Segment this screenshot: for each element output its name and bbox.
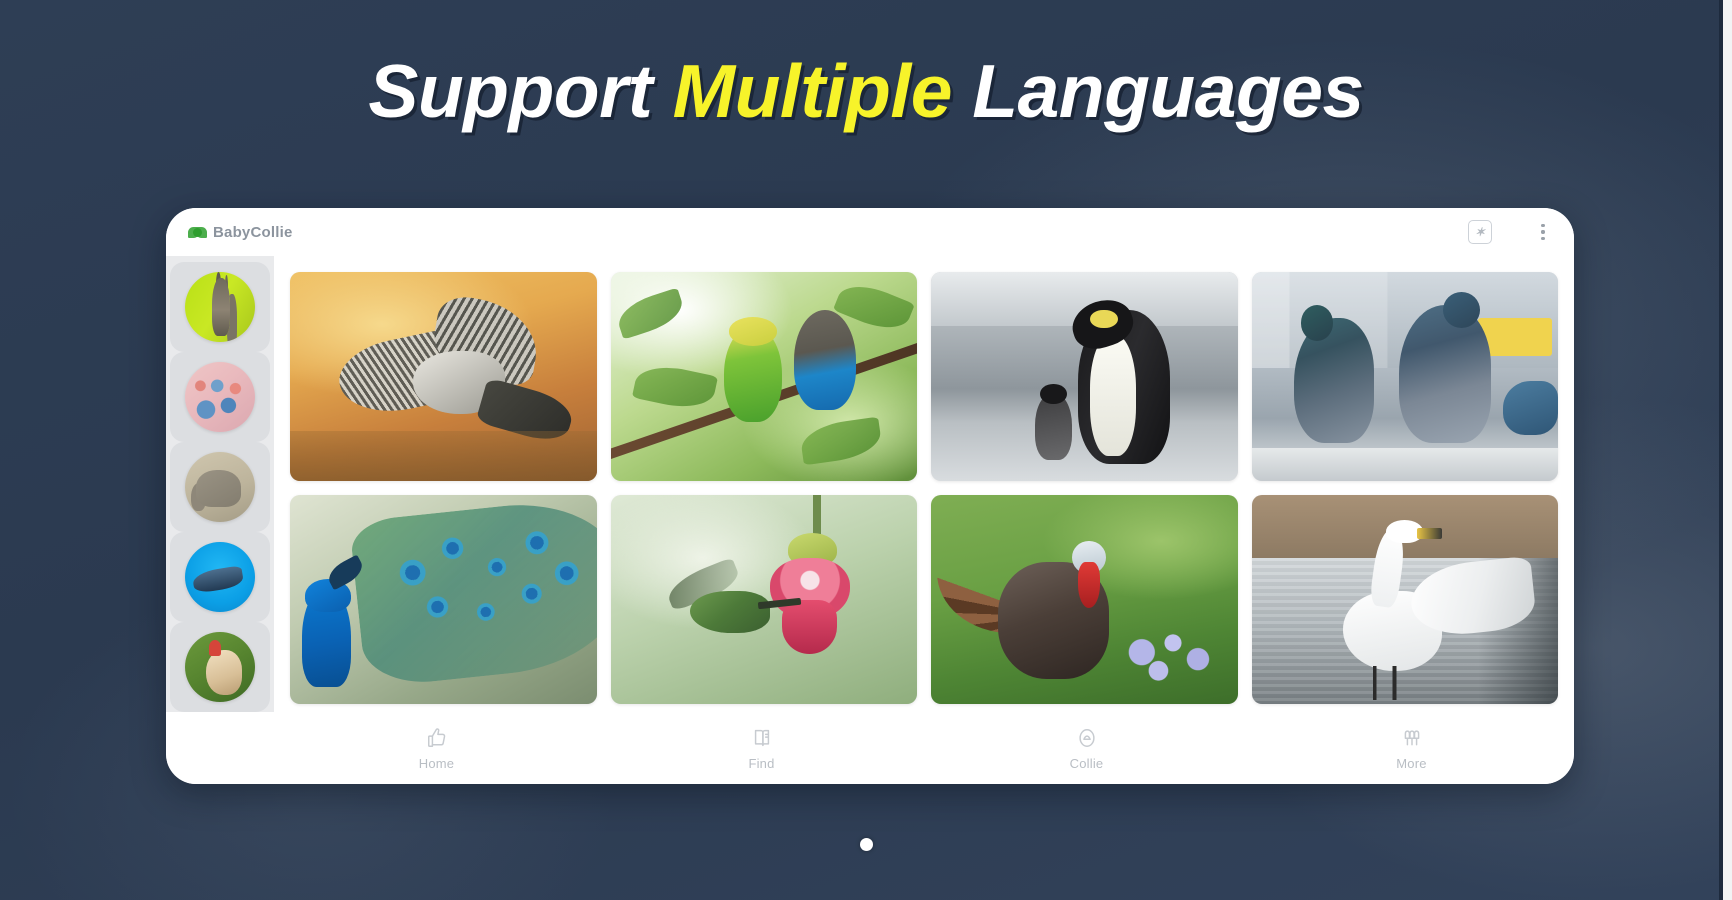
sidebar-item-elephant[interactable]	[170, 442, 270, 532]
app-body	[166, 256, 1574, 712]
hummingbird-card[interactable]	[611, 495, 918, 704]
pagination-dot-1[interactable]	[860, 838, 873, 851]
green-clover-logo-icon	[188, 223, 207, 242]
right-edge-strip	[1723, 0, 1732, 900]
bottom-nav-items: Home Find	[274, 726, 1574, 771]
gallery-grid	[290, 272, 1558, 704]
turkey-card[interactable]	[931, 495, 1238, 704]
promo-screenshot: Support Multiple Languages BabyCollie ✶	[0, 0, 1732, 900]
headline-part-1: Support	[368, 49, 672, 133]
nav-label-collie: Collie	[1070, 756, 1104, 771]
pagination-dots	[0, 838, 1732, 851]
pigeon-card[interactable]	[1252, 272, 1559, 481]
nav-item-collie[interactable]: Collie	[924, 726, 1249, 771]
nav-label-find: Find	[748, 756, 774, 771]
thumbs-up-icon	[425, 726, 449, 750]
elephant-thumbnail	[185, 452, 255, 522]
hare-thumbnail	[185, 272, 255, 342]
turkey-image	[931, 495, 1238, 704]
nav-item-find[interactable]: Find	[599, 726, 924, 771]
brand: BabyCollie	[188, 223, 293, 242]
peacock-image	[290, 495, 597, 704]
hummingbird-image	[611, 495, 918, 704]
pigeon-image	[1252, 272, 1559, 481]
chicken-thumbnail	[185, 632, 255, 702]
peacock-card[interactable]	[290, 495, 597, 704]
penguin-image	[931, 272, 1238, 481]
category-sidebar[interactable]	[166, 256, 274, 712]
nav-item-more[interactable]: More	[1249, 726, 1574, 771]
sidebar-item-whale[interactable]	[170, 532, 270, 622]
bottom-navigation-bar: Home Find	[166, 712, 1574, 784]
hawk-image	[290, 272, 597, 481]
headline-accent-word: Multiple	[673, 49, 952, 133]
penguin-card[interactable]	[931, 272, 1238, 481]
nav-label-more: More	[1396, 756, 1426, 771]
language-translate-icon[interactable]: ✶	[1468, 220, 1492, 244]
whale-thumbnail	[185, 542, 255, 612]
gallery-grid-wrapper	[274, 256, 1574, 712]
sidebar-item-chicken[interactable]	[170, 622, 270, 712]
swan-image	[1252, 495, 1559, 704]
sidebar-item-hare[interactable]	[170, 262, 270, 352]
fish-thumbnail	[185, 362, 255, 432]
page-title: Support Multiple Languages	[0, 52, 1732, 131]
nav-label-home: Home	[419, 756, 454, 771]
more-grid-icon	[1400, 726, 1424, 750]
app-title: BabyCollie	[213, 224, 293, 241]
budgerigar-image	[611, 272, 918, 481]
language-glyph: ✶	[1469, 221, 1491, 243]
sidebar-item-fish[interactable]	[170, 352, 270, 442]
app-bar: BabyCollie ✶	[166, 208, 1574, 256]
budgerigar-card[interactable]	[611, 272, 918, 481]
hawk-card[interactable]	[290, 272, 597, 481]
nav-item-home[interactable]: Home	[274, 726, 599, 771]
tablet-device-mockup: BabyCollie ✶	[166, 208, 1574, 784]
more-vertical-icon[interactable]	[1534, 220, 1552, 244]
book-icon	[750, 726, 774, 750]
collie-circle-icon	[1075, 726, 1099, 750]
swan-card[interactable]	[1252, 495, 1559, 704]
headline-part-2: Languages	[952, 49, 1364, 133]
